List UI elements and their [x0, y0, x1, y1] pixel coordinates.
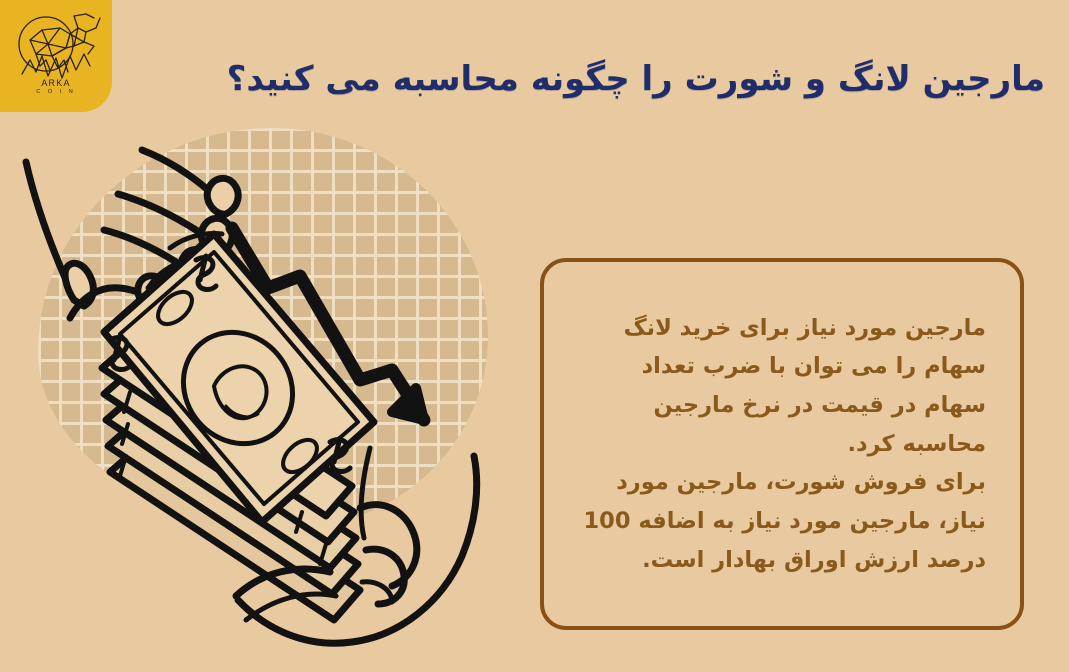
holding-hand-finger-2-icon — [366, 549, 404, 604]
brand-logo-badge[interactable]: ARKA C O I N — [0, 0, 112, 112]
brand-subname: C O I N — [0, 89, 112, 96]
content-paragraph-2: برای فروش شورت، مارجین مورد نیاز، مارجین… — [578, 463, 986, 579]
header: مارجین لانگ و شورت را چگونه محاسبه می کن… — [0, 44, 1069, 116]
hand-knuckle-line-icon — [361, 448, 370, 538]
content-paragraph-1: مارجین مورد نیاز برای خرید لانگ سهام را … — [578, 309, 986, 464]
little-nail-icon — [207, 178, 238, 214]
downward-trend-arrow-head-icon — [392, 388, 424, 420]
geometric-bull-icon — [8, 6, 104, 84]
holding-hand-finger-1-icon — [360, 505, 417, 586]
content-card: مارجین مورد نیاز برای خرید لانگ سهام را … — [540, 258, 1024, 630]
brand-name: ARKA — [41, 78, 70, 88]
infographic-canvas: ARKA C O I N مارجین لانگ و شورت را چگونه… — [0, 0, 1069, 672]
brand-wordmark: ARKA C O I N — [0, 78, 112, 96]
hand-cash-arrow-illustration — [0, 120, 540, 672]
content-card-body: مارجین مورد نیاز برای خرید لانگ سهام را … — [578, 309, 986, 580]
page-title: مارجین لانگ و شورت را چگونه محاسبه می کن… — [227, 61, 1045, 98]
